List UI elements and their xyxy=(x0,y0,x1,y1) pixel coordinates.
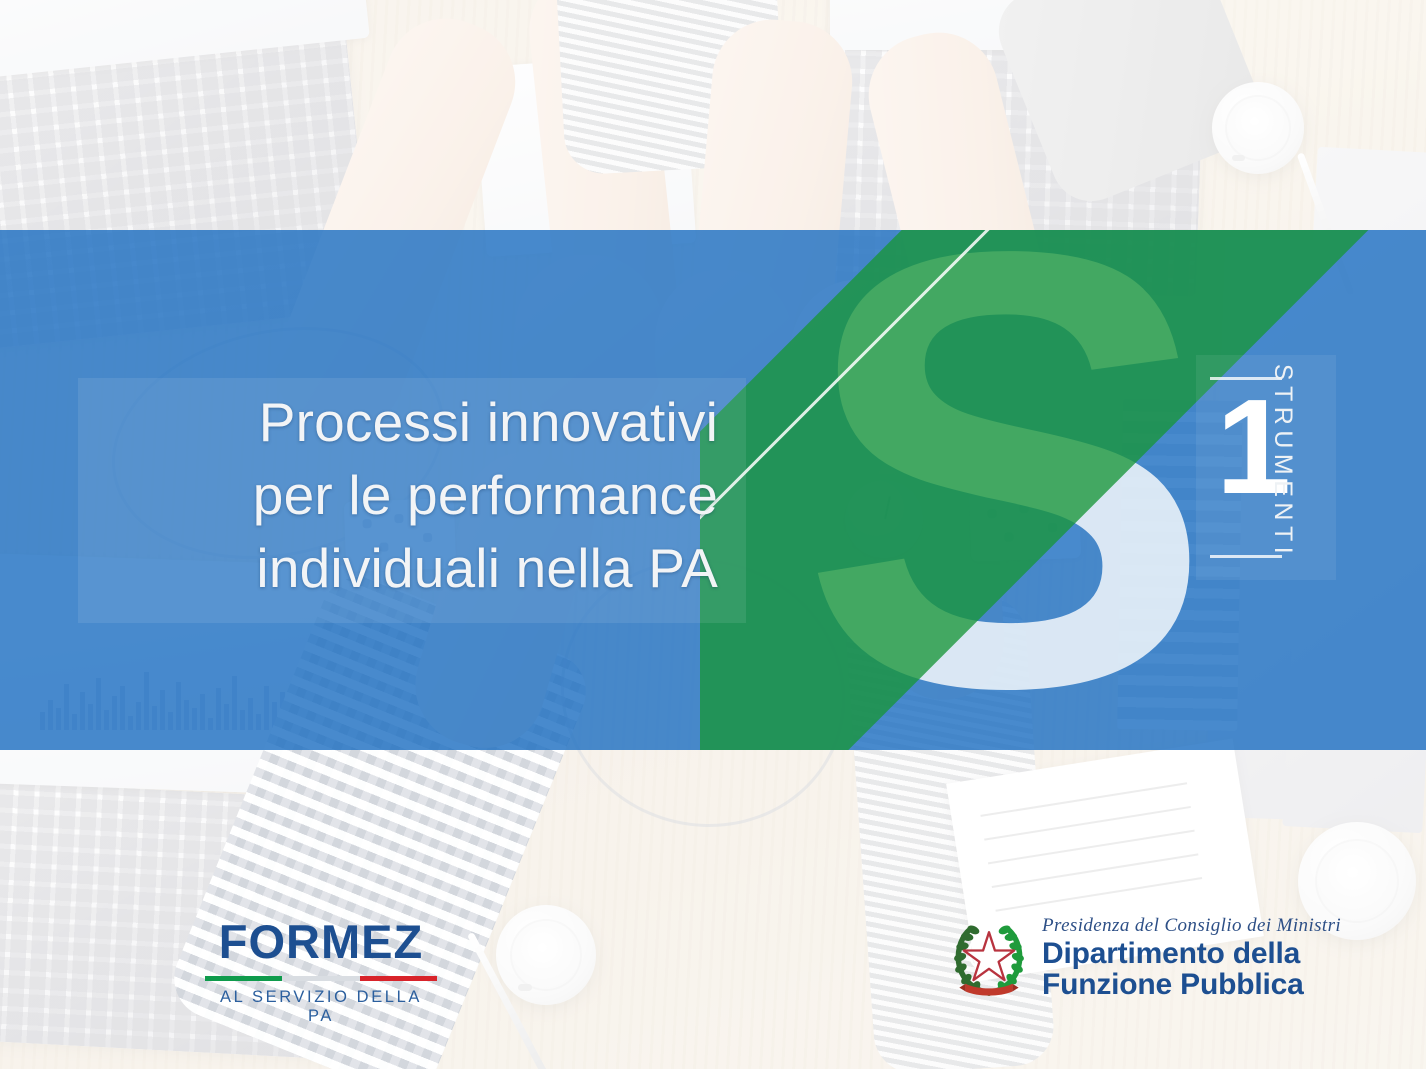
dipartimento-funzione-pubblica-logo: Presidenza del Consiglio dei Ministri Di… xyxy=(950,915,1341,1001)
cup-lid xyxy=(1315,839,1400,924)
paper-line xyxy=(992,853,1199,888)
coffee-cup-bottom-center xyxy=(496,905,596,1005)
presentation-slide: S Processi innovativi per le performance… xyxy=(0,0,1426,1069)
page-title: Processi innovativi per le performance i… xyxy=(78,386,718,605)
dfp-presidency-line: Presidenza del Consiglio dei Ministri xyxy=(1042,916,1341,936)
tricolor-red xyxy=(360,976,437,981)
formez-logo: FORMEZ AL SERVIZIO DELLA PA xyxy=(205,918,437,1026)
coffee-cup-top-right xyxy=(1212,82,1304,174)
title-line-3: individuali nella PA xyxy=(78,532,718,605)
module-badge: 1 STRUMENTI xyxy=(1196,355,1336,580)
pen-bottom-center xyxy=(467,932,548,1069)
formez-wordmark: FORMEZ xyxy=(205,918,437,965)
cup-tab xyxy=(518,984,532,991)
s-watermark-letter: S xyxy=(800,230,1201,750)
paper-line xyxy=(984,806,1191,841)
dfp-line-1: Dipartimento della xyxy=(1042,938,1341,969)
sleeve-grey-top xyxy=(554,0,786,176)
dfp-line-2: Funzione Pubblica xyxy=(1042,969,1341,1000)
italian-tricolor-rule xyxy=(205,976,437,981)
laptop-screen-top-center xyxy=(830,0,1210,50)
laptop-screen-left xyxy=(0,0,370,81)
cup-lid xyxy=(510,919,582,991)
title-line-2: per le performance xyxy=(78,459,718,532)
module-label: STRUMENTI xyxy=(1268,364,1297,559)
pen-bottom-right xyxy=(1019,813,1190,862)
dfp-text-block: Presidenza del Consiglio dei Ministri Di… xyxy=(1042,916,1341,1000)
paper-line xyxy=(995,877,1202,912)
s-watermark: S xyxy=(800,230,1260,750)
title-line-1: Processi innovativi xyxy=(78,386,718,459)
tablet-top-center xyxy=(474,53,697,257)
paper-line xyxy=(988,830,1195,865)
cup-tab xyxy=(1232,155,1245,161)
paper-line xyxy=(980,782,1187,817)
sleeve-white-right xyxy=(987,0,1273,213)
tricolor-green xyxy=(205,976,282,981)
formez-tagline: AL SERVIZIO DELLA PA xyxy=(205,988,437,1026)
cup-lid xyxy=(1225,95,1291,161)
italy-emblem-icon xyxy=(950,915,1028,1001)
tricolor-white xyxy=(282,976,359,981)
